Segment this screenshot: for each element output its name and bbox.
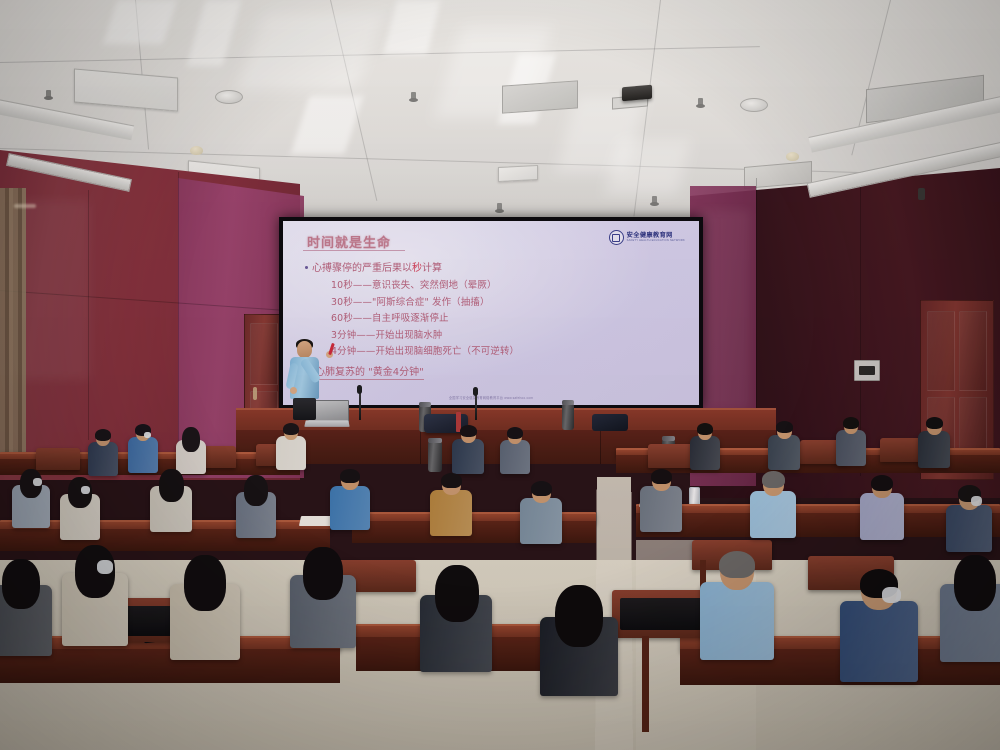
audience-hair [95, 429, 111, 441]
slide-line: 4分钟——开始出现脑细胞死亡（不可逆转） [331, 343, 687, 357]
slide-line: 30秒——"阿斯综合症" 发作（抽搐） [331, 294, 687, 308]
audience-torso [690, 436, 720, 470]
audience-member [860, 476, 904, 540]
audience-hair [435, 565, 479, 622]
slide-title: 时间就是生命 [307, 232, 391, 251]
slide-logo: 安全健康教育网 SAFETY HEALTH EDUCATION NETWORK [609, 230, 685, 245]
audience-member [640, 470, 682, 532]
slide-logo-name-cn: 安全健康教育网 [627, 233, 685, 239]
chair-leg [642, 636, 649, 732]
audience-hair [460, 425, 477, 437]
audience-member [918, 418, 950, 468]
ceiling-light-panel [74, 68, 178, 111]
door-panel [959, 311, 987, 391]
presenter-hand [290, 387, 297, 394]
audience-hair [555, 585, 603, 647]
microphone [473, 387, 478, 396]
audience-hair [651, 469, 672, 484]
microphone-stand [475, 394, 477, 420]
audience-member [700, 552, 774, 660]
vacuum-flask[interactable] [428, 442, 442, 472]
fire-sprinkler [411, 92, 416, 101]
audience-torso [276, 436, 306, 470]
audience-hair [697, 423, 713, 435]
audience-torso [700, 582, 774, 660]
audience-hair [184, 555, 226, 611]
audience-torso [640, 486, 682, 532]
audience-hair [507, 427, 523, 439]
audience-member [290, 548, 356, 648]
audience-hair [159, 469, 184, 502]
ceiling-air-vent [502, 80, 578, 113]
face-mask [971, 496, 982, 506]
audience-hair [843, 417, 859, 429]
door-panel [250, 323, 278, 385]
audience-torso [520, 498, 562, 544]
fire-sprinkler [497, 203, 502, 212]
audience-member [768, 422, 800, 470]
wall-light-strip [14, 204, 36, 208]
audience-torso [768, 435, 800, 470]
audience-member [62, 546, 128, 646]
projection-screen: 时间就是生命 安全健康教育网 SAFETY HEALTH EDUCATION N… [283, 221, 699, 405]
audience-member [150, 470, 192, 532]
microphone-stand [359, 392, 361, 420]
face-mask [882, 587, 901, 603]
audience-hair [719, 551, 755, 578]
audience-torso [840, 601, 918, 682]
audience-hair [283, 423, 299, 435]
audience-hair [441, 473, 462, 488]
audience-member [750, 472, 796, 538]
ceiling-speaker [740, 98, 768, 112]
audience-torso [946, 505, 992, 552]
smoke-detector [190, 146, 203, 155]
audience-hair [926, 417, 943, 429]
chair[interactable] [36, 448, 80, 470]
desk-front-row-mid [0, 529, 330, 551]
audience-member [836, 418, 866, 466]
slide-logo-name-en: SAFETY HEALTH EDUCATION NETWORK [627, 240, 685, 243]
bullet-dot-icon [305, 266, 308, 269]
microphone [357, 385, 362, 394]
door-handle[interactable] [253, 387, 257, 400]
laptop-keyboard[interactable] [304, 420, 349, 426]
audience-torso [128, 437, 158, 473]
audience-hair [303, 547, 343, 600]
audience-member [520, 482, 562, 544]
audience-member [540, 586, 618, 696]
wall-speaker [918, 188, 925, 200]
bag [592, 414, 628, 431]
face-mask [144, 432, 151, 438]
fire-sprinkler [46, 90, 51, 99]
slide-body: 心搏骤停的严重后果以秒计算 10秒——意识丧失、突然倒地（晕厥） 30秒——"阿… [305, 259, 687, 380]
audience-torso [918, 431, 950, 468]
audience-member [60, 478, 100, 540]
audience-member [500, 428, 530, 474]
conference-room-photo: 时间就是生命 安全健康教育网 SAFETY HEALTH EDUCATION N… [0, 0, 1000, 750]
slide-conclusion: 心肺复苏的 "黄金4分钟" [315, 363, 424, 380]
fire-sprinkler [698, 98, 703, 107]
audience-torso [330, 486, 370, 530]
audience-hair [871, 475, 893, 491]
chair[interactable] [648, 444, 696, 468]
audience-torso [88, 442, 118, 476]
ceiling-projector [622, 85, 652, 102]
face-mask [81, 486, 90, 494]
audience-torso [430, 490, 472, 536]
audience-hair [182, 427, 200, 452]
audience-member [170, 556, 240, 660]
ceiling-light-panel [498, 165, 538, 182]
audience-member [0, 560, 52, 656]
shield-emblem-icon [609, 230, 624, 245]
slide-line: 3分钟——开始出现脑水肿 [331, 327, 687, 341]
audience-member [452, 426, 484, 474]
audience-hair [762, 471, 785, 488]
presenter [286, 341, 326, 419]
audience-member [690, 424, 720, 470]
audience-member [840, 570, 918, 682]
audience-member [236, 476, 276, 538]
bullet-highlight: 秒 [412, 263, 422, 274]
slide-title-underline [303, 250, 405, 251]
audience-member [330, 470, 370, 530]
audience-member [128, 425, 158, 473]
slide-logo-text: 安全健康教育网 SAFETY HEALTH EDUCATION NETWORK [627, 233, 685, 243]
slide-bullet-heading: 心搏骤停的严重后果以秒计算 [305, 259, 687, 274]
audience-torso [750, 491, 796, 538]
ceiling-speaker [215, 90, 243, 104]
audience-hair [2, 559, 40, 609]
audience-member [420, 566, 492, 672]
audience-hair [954, 555, 996, 611]
audience-torso [860, 493, 904, 540]
face-mask [33, 478, 42, 486]
audience-hair [244, 475, 268, 506]
audience-member [430, 474, 472, 536]
audience-member [940, 556, 1000, 662]
audience-torso [500, 440, 530, 474]
face-mask [97, 560, 113, 574]
fire-sprinkler [652, 196, 657, 205]
audience-hair [340, 469, 360, 483]
vacuum-flask[interactable] [562, 404, 574, 430]
presenter-legs [293, 398, 316, 420]
audience-member [276, 424, 306, 470]
audience-hair [776, 421, 793, 433]
audience-torso [836, 430, 866, 466]
audience-hair [531, 481, 552, 496]
bullet-suffix: 计算 [422, 263, 442, 274]
presenter-head [297, 341, 312, 358]
slide-line: 60秒——自主呼吸逐渐停止 [331, 310, 687, 324]
audience-torso [452, 439, 484, 474]
smoke-detector [786, 152, 799, 161]
audience-member [946, 486, 992, 552]
door-panel [927, 311, 955, 391]
wall-control-panel[interactable] [854, 360, 880, 381]
ceiling-air-vent [744, 161, 812, 189]
audience-member [176, 428, 206, 474]
slide-line: 10秒——意识丧失、突然倒地（晕厥） [331, 277, 687, 291]
window-curtain [0, 188, 26, 458]
audience-member [12, 470, 50, 528]
audience-member [88, 430, 118, 476]
bullet-prefix: 心搏骤停的严重后果以 [312, 263, 412, 274]
